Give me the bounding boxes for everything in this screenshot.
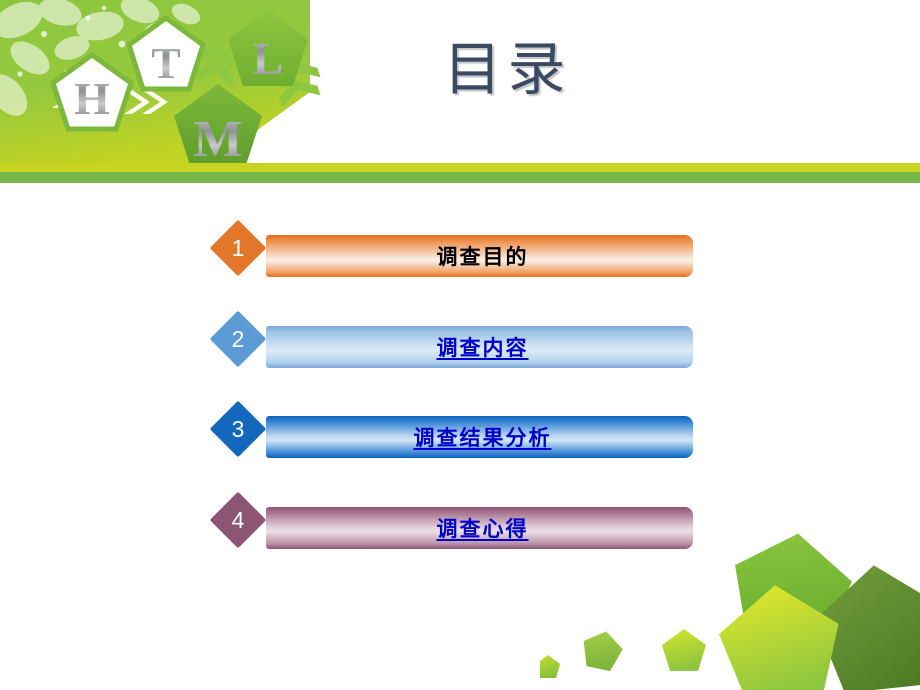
slide-canvas: H T L M 目录 [0, 0, 920, 690]
toc-item-3[interactable]: 调查结果分析 3 [218, 416, 693, 458]
toc-label-2[interactable]: 调查内容 [266, 326, 693, 368]
toc-label-3[interactable]: 调查结果分析 [266, 416, 693, 458]
toc-number-3: 3 [218, 409, 258, 449]
pentagon-decoration-cluster [540, 525, 920, 690]
toc-number-4: 4 [218, 500, 258, 540]
toc-number-2: 2 [218, 319, 258, 359]
toc-item-1[interactable]: 调查目的 1 [218, 235, 693, 277]
toc-number-1: 1 [218, 228, 258, 268]
toc-label-1[interactable]: 调查目的 [266, 235, 693, 277]
toc-item-2[interactable]: 调查内容 2 [218, 326, 693, 368]
